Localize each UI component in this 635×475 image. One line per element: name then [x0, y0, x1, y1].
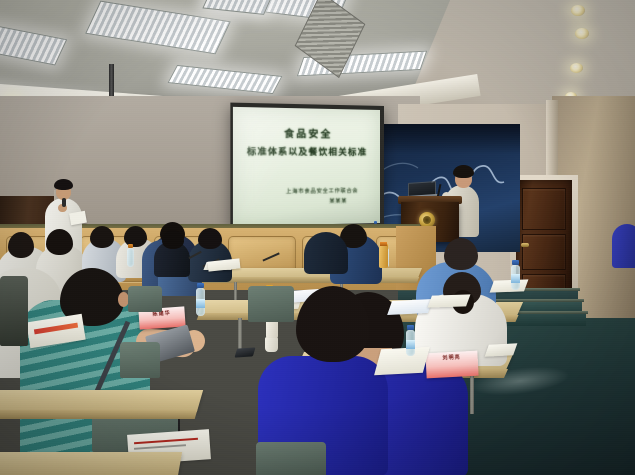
attendee-back-1-head: [8, 232, 34, 258]
chair-mid-2: [120, 342, 160, 378]
table-leg-right-1: [470, 376, 474, 414]
namecard-right-text: 刘明亮: [425, 351, 477, 363]
chair-back-1: [128, 286, 162, 312]
table-front-row-edge: [0, 410, 197, 419]
attendee-back-2-head: [46, 229, 73, 255]
downlight-1: [575, 28, 589, 39]
bottle-label-right-1: [406, 340, 415, 349]
bottle-cap-right-1: [407, 325, 414, 330]
door-panel-mid: [522, 234, 566, 270]
bottle-back-1: [127, 248, 134, 267]
bottle-cap-mid-1: [197, 283, 204, 288]
downlight-2: [570, 63, 583, 73]
attendee-back-8-head: [198, 228, 222, 249]
attendee-back-10-head: [162, 230, 184, 249]
downlight-4: [571, 5, 585, 16]
chair-front-right: [256, 442, 326, 475]
handheld-microphone: [62, 198, 66, 207]
papers-right-3: [428, 294, 471, 307]
cup-on-table: [265, 337, 278, 352]
smartphone-on-table[interactable]: [234, 347, 255, 357]
attendee-right-5-torso: [304, 232, 348, 274]
bottle-cap-back-1: [128, 244, 133, 248]
table-leg-mid-1: [238, 318, 242, 352]
table-front-row: [0, 390, 203, 412]
attendee-right-2-head: [444, 238, 478, 270]
chair-right-1: [248, 286, 294, 322]
bottle-cap-right-2: [512, 260, 519, 265]
table-foreground: [0, 452, 182, 475]
bottle-label-mid-1: [196, 299, 205, 308]
screen-glare: [233, 107, 380, 226]
juice-bottle-cap-right: [380, 242, 387, 246]
conference-room-photo: 食品安全 标准体系以及餐饮相关标准 上海市食品安全工作联合会 某某某: [0, 0, 635, 475]
standing-speaker-hair: [54, 179, 73, 190]
projector-mount-pole: [109, 64, 114, 100]
door-handle-icon[interactable]: [521, 243, 529, 247]
attendee-right-6-torso: [612, 224, 635, 268]
papers-right-4: [490, 279, 529, 292]
bottle-label-right-2: [511, 274, 520, 283]
podium-speaker-hair: [453, 165, 474, 178]
papers-right-2: [387, 299, 433, 315]
door-panel-upper: [522, 188, 566, 230]
papers-right-1: [374, 347, 430, 375]
chair-right-2: [0, 276, 28, 346]
papers-right-5: [485, 343, 518, 356]
attendee-back-3-head: [90, 226, 114, 248]
podium-emblem-inner: [423, 216, 431, 224]
namecard-right: 刘明亮: [425, 351, 478, 379]
juice-bottle-right: [379, 246, 388, 268]
